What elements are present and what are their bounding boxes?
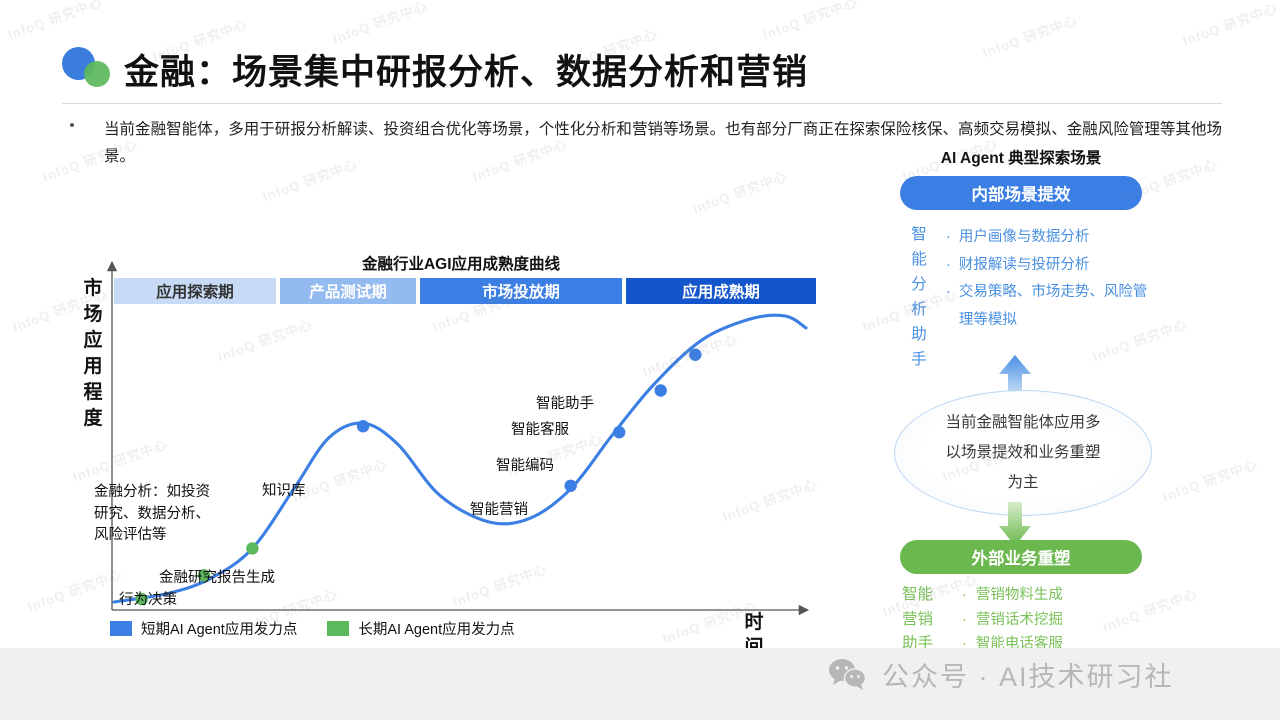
internal-scenario-pill[interactable]: 内部场景提效 [900, 176, 1142, 210]
legend-item-long-term: 长期AI Agent应用发力点 [327, 618, 514, 639]
external-item-1: 营销话术挖掘 [976, 608, 1063, 633]
external-scenario-pill[interactable]: 外部业务重塑 [900, 540, 1142, 574]
data-point [613, 426, 625, 438]
internal-item-2: 交易策略、市场走势、风险管理等模拟 [959, 279, 1158, 334]
legend-label-short-term: 短期AI Agent应用发力点 [141, 618, 297, 639]
center-note-line-2: 为主 [1007, 468, 1038, 498]
data-point [565, 480, 577, 492]
wechat-icon [828, 658, 868, 692]
annotation-report-generation: 金融研究报告生成 [159, 568, 275, 588]
logo-circle-green [84, 61, 110, 87]
scenario-panel-heading: AI Agent 典型探索场景 [890, 146, 1152, 168]
legend-swatch-blue [110, 621, 132, 636]
list-item: ·营销话术挖掘 [962, 608, 1162, 633]
legend-label-long-term: 长期AI Agent应用发力点 [358, 618, 514, 639]
annotation-smart-service: 智能客服 [511, 420, 569, 440]
maturity-curve-chart: 金融行业AGI应用成熟度曲线 市场应用程度 应用探索期 产品测试期 市场投放期 … [36, 238, 836, 658]
footer-credit: 公众号 · AI技术研习社 [828, 655, 1174, 694]
center-note-line-0: 当前金融智能体应用多 [945, 408, 1100, 438]
list-item: ·财报解读与投研分析 [946, 252, 1158, 280]
data-point [655, 384, 667, 396]
scenario-panel: AI Agent 典型探索场景 内部场景提效 智能分析助手 ·用户画像与数据分析… [890, 140, 1190, 660]
data-point-layer [136, 349, 702, 606]
internal-vertical-label: 智能分析助手 [908, 222, 930, 372]
annotation-smart-assistant: 智能助手 [536, 394, 594, 414]
annotation-financial-analysis: 金融分析：如投资研究、数据分析、风险评估等 [94, 482, 212, 547]
external-items-list: ·营销物料生成 ·营销话术挖掘 ·智能电话客服 [962, 583, 1162, 657]
annotation-knowledge-base: 知识库 [262, 481, 306, 501]
chart-legend: 短期AI Agent应用发力点 长期AI Agent应用发力点 [110, 618, 515, 639]
center-note-line-1: 以场景提效和业务重塑 [945, 438, 1100, 468]
data-point [689, 349, 701, 361]
bullet-dot-icon: · [946, 279, 951, 334]
annotation-smart-coding: 智能编码 [496, 456, 554, 476]
data-point [246, 542, 258, 554]
annotation-smart-marketing: 智能营销 [470, 500, 528, 520]
external-vertical-label: 智能营销助手 [902, 583, 946, 657]
bullet-dot-icon: · [946, 224, 951, 252]
slide-canvas: 金融：场景集中研报分析、数据分析和营销 当前金融智能体，多用于研报分析解读、投资… [0, 0, 1280, 720]
bullet-dot-icon [70, 123, 74, 127]
bullet-dot-icon: · [962, 608, 967, 633]
legend-swatch-green [327, 621, 349, 636]
watermark: InfoQ 研究中心 [690, 166, 790, 218]
data-point [357, 420, 369, 432]
legend-item-short-term: 短期AI Agent应用发力点 [110, 618, 297, 639]
hype-curve-path [114, 315, 806, 602]
internal-items-list: ·用户画像与数据分析 ·财报解读与投研分析 ·交易策略、市场走势、风险管理等模拟 [946, 224, 1158, 334]
bullet-dot-icon: · [962, 583, 967, 608]
list-item: ·交易策略、市场走势、风险管理等模拟 [946, 279, 1158, 334]
center-note-oval: 当前金融智能体应用多 以场景提效和业务重塑 为主 [894, 390, 1152, 516]
annotation-behavior-decision: 行为决策 [119, 590, 177, 610]
list-item: ·营销物料生成 [962, 583, 1162, 608]
internal-item-1: 财报解读与投研分析 [959, 252, 1090, 280]
footer-credit-text: 公众号 · AI技术研习社 [882, 655, 1174, 694]
logo-mark [62, 47, 122, 93]
external-item-0: 营销物料生成 [976, 583, 1063, 608]
title-divider [62, 103, 1222, 104]
page-title: 金融：场景集中研报分析、数据分析和营销 [124, 44, 808, 95]
bullet-dot-icon: · [946, 252, 951, 280]
slide-header: 金融：场景集中研报分析、数据分析和营销 [0, 0, 1280, 104]
list-item: ·用户画像与数据分析 [946, 224, 1158, 252]
internal-item-0: 用户画像与数据分析 [959, 224, 1090, 252]
